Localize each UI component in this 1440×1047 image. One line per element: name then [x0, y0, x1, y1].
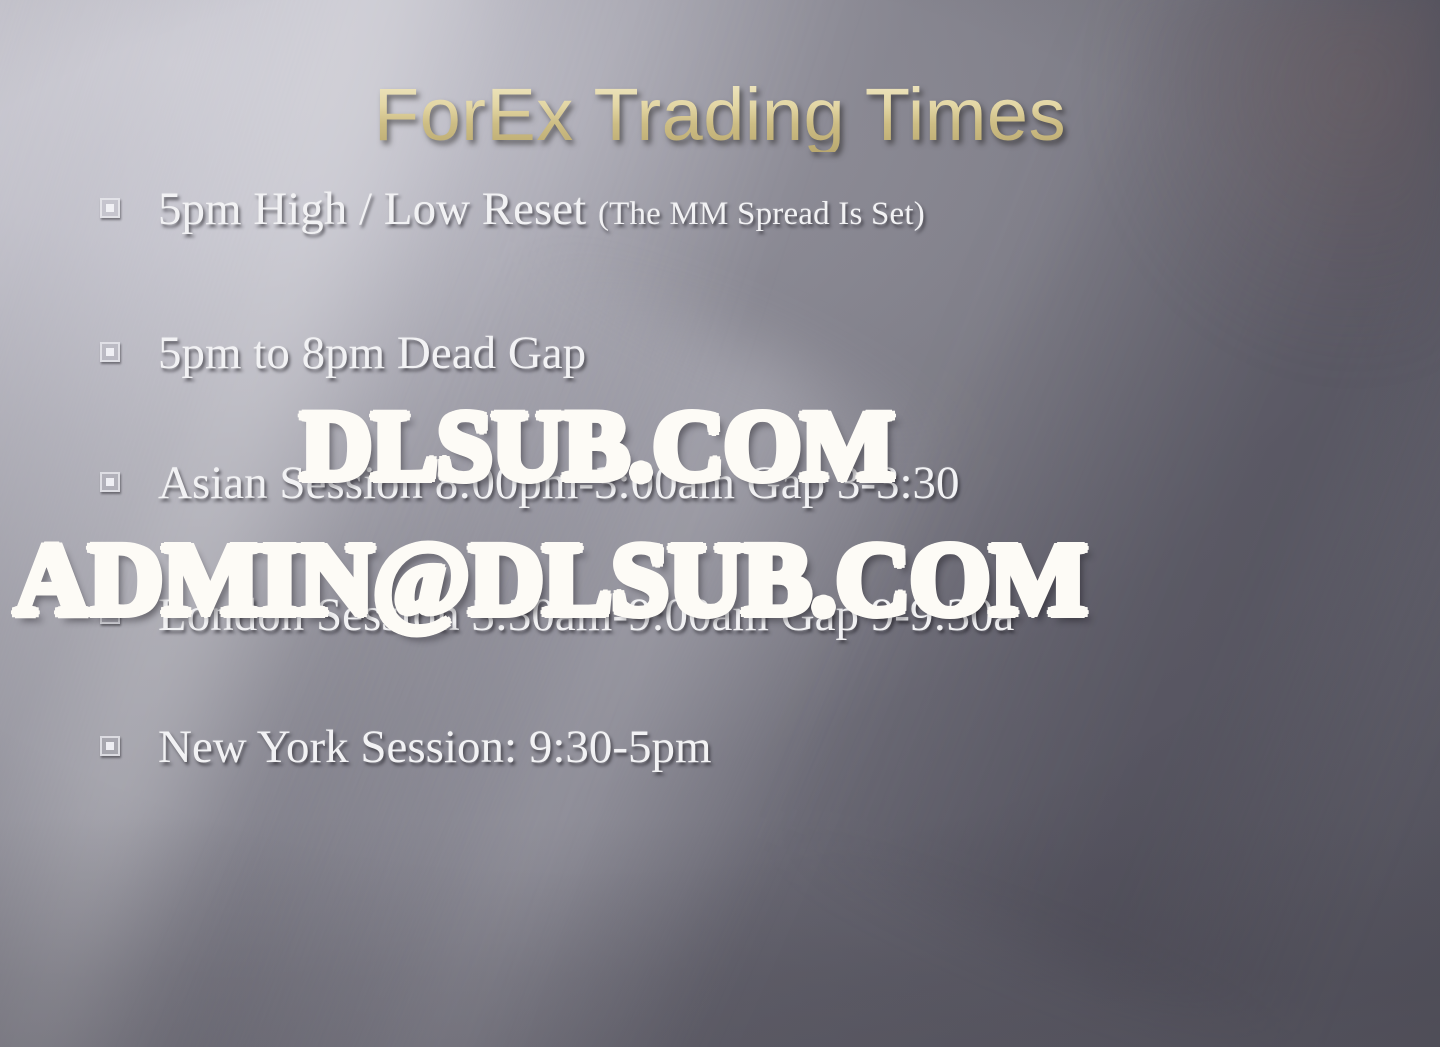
list-item-main-text: New York Session: 9:30-5pm — [158, 721, 712, 773]
list-item: 5pm High / Low Reset (The MM Spread Is S… — [100, 185, 1380, 237]
list-item-text: New York Session: 9:30-5pm — [158, 723, 712, 773]
list-item-text: 5pm to 8pm Dead Gap — [158, 329, 586, 379]
slide-content: ForEx Trading Times 5pm High / Low Reset… — [0, 0, 1440, 1047]
watermark-site-url-text: DLSUB.COM — [300, 388, 894, 503]
list-item-main-text: 5pm High / Low Reset — [158, 183, 598, 235]
square-bullet-icon — [100, 736, 120, 756]
square-bullet-icon — [100, 342, 120, 362]
list-item: 5pm to 8pm Dead Gap — [100, 329, 1380, 381]
page-title: ForEx Trading Times — [0, 78, 1440, 152]
list-item-text: 5pm High / Low Reset (The MM Spread Is S… — [158, 185, 925, 235]
square-bullet-icon — [100, 472, 120, 492]
watermark-contact-email-text: ADMIN@DLSUB.COM — [14, 520, 1087, 639]
slide-canvas: ForEx Trading Times 5pm High / Low Reset… — [0, 0, 1440, 1047]
list-item-main-text: 5pm to 8pm Dead Gap — [158, 327, 586, 379]
list-item: New York Session: 9:30-5pm — [100, 723, 1380, 775]
list-item-sub-text: (The MM Spread Is Set) — [598, 196, 925, 232]
watermark-site-url: DLSUB.COM — [300, 388, 894, 503]
square-bullet-icon — [100, 198, 120, 218]
watermark-contact-email: ADMIN@DLSUB.COM — [14, 520, 1087, 639]
